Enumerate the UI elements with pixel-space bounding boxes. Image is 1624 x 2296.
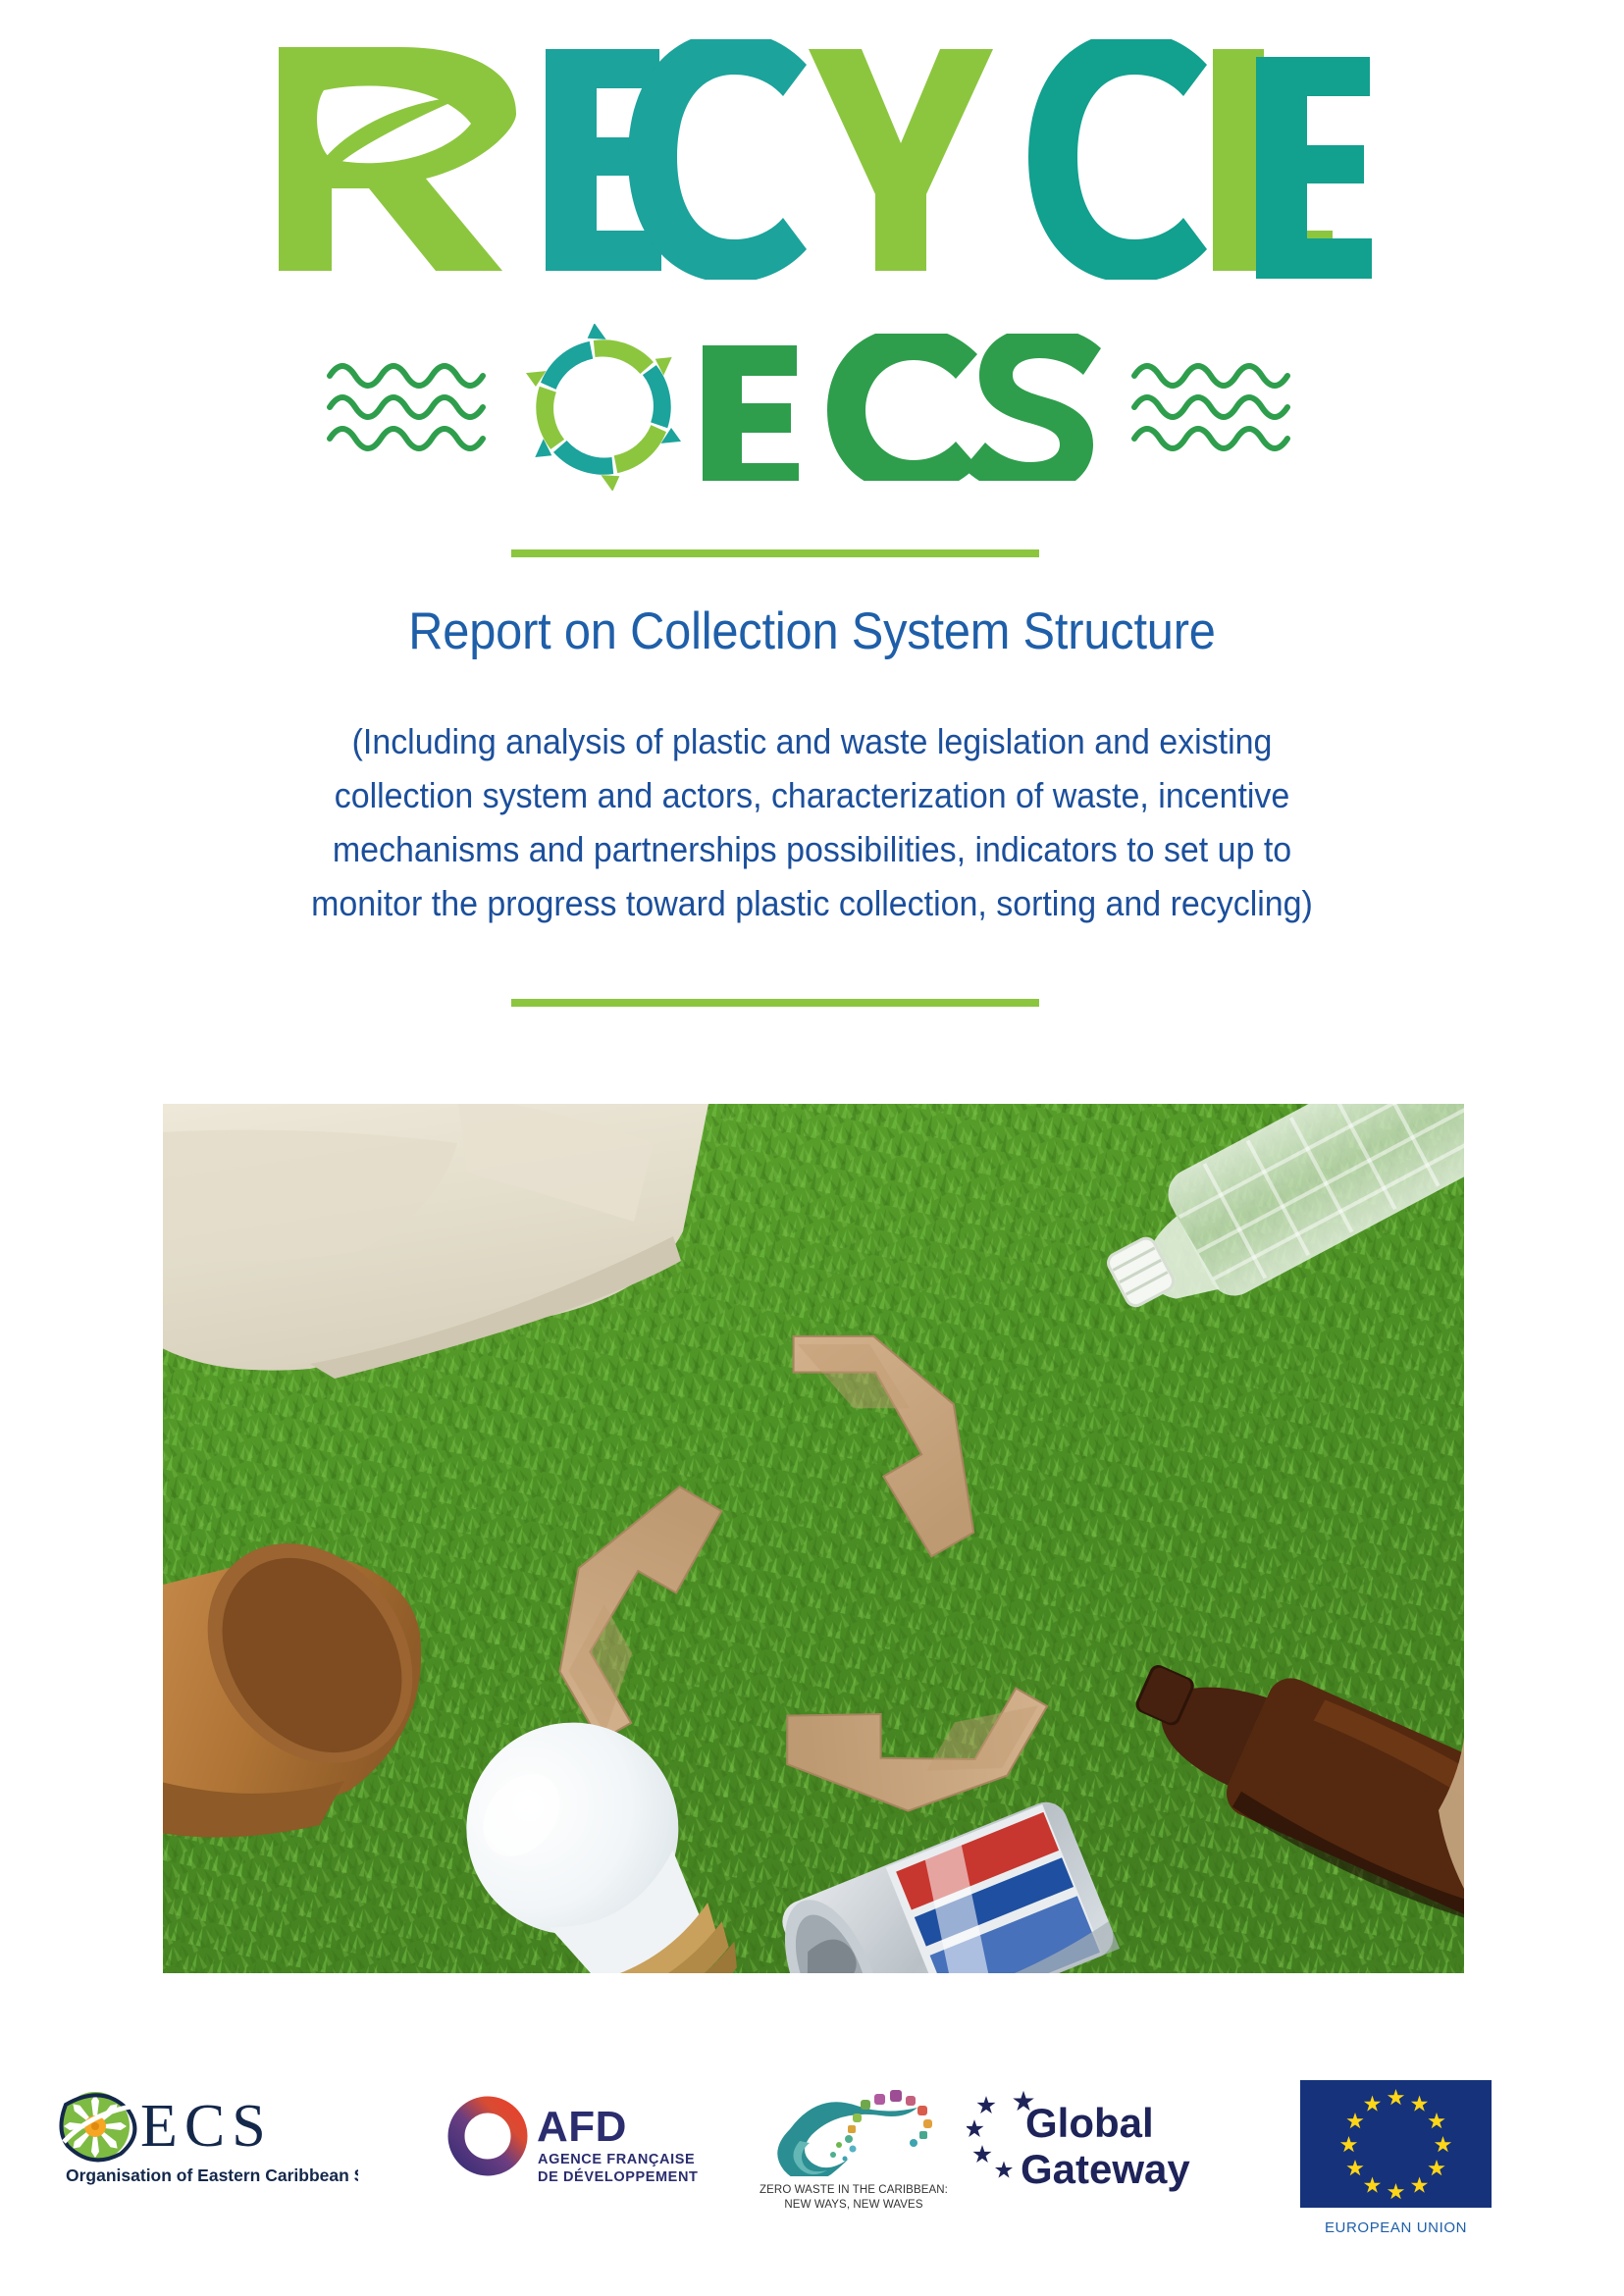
oecs-letter-S: [964, 334, 1101, 481]
oecs-logo-svg: ECS Organisation of Eastern Caribbean St…: [54, 2085, 358, 2203]
ring-seg-6: [540, 324, 610, 400]
zero-waste-logo: ZERO WASTE IN THE CARIBBEAN: NEW WAYS, N…: [751, 2088, 957, 2213]
recycle-ring-icon: [520, 324, 687, 491]
ring-seg-1: [593, 339, 671, 375]
afd-logo-svg: AFD AGENCE FRANÇAISE DE DÉVELOPPEMENT: [446, 2095, 707, 2193]
subtitle-line-3: mechanisms and partnerships possibilitie…: [235, 822, 1388, 876]
subtitle-line-1: (Including analysis of plastic and waste…: [235, 714, 1388, 768]
afd-line-1: AGENCE FRANÇAISE: [538, 2152, 695, 2167]
oecs-acronym: ECS: [140, 2093, 273, 2160]
global-gateway-logo: Global Gateway: [967, 2090, 1251, 2203]
global-gateway-line-2: Gateway: [1021, 2146, 1190, 2192]
divider-top: [511, 549, 1039, 557]
afd-logo: AFD AGENCE FRANÇAISE DE DÉVELOPPEMENT: [446, 2095, 707, 2198]
global-gateway-line-1: Global: [1025, 2100, 1154, 2146]
letter-C-2: [1028, 39, 1207, 280]
zero-waste-caption: ZERO WASTE IN THE CARIBBEAN: NEW WAYS, N…: [751, 2183, 957, 2213]
afd-acronym: AFD: [537, 2103, 627, 2151]
recycle-wordmark-svg: [263, 39, 1362, 280]
cover-photo-illustration: [163, 1104, 1464, 1973]
page-title: Report on Collection System Structure: [65, 601, 1559, 661]
zero-waste-line-2: NEW WAYS, NEW WAVES: [751, 2198, 957, 2213]
eu-flag-icon: [1300, 2080, 1492, 2208]
letter-E-last: [1246, 47, 1384, 287]
oecs-tagline: Organisation of Eastern Caribbean States: [66, 2166, 358, 2185]
afd-gradient-ring-icon: [456, 2105, 519, 2167]
divider-bottom: [511, 999, 1039, 1007]
afd-line-2: DE DÉVELOPPEMENT: [538, 2168, 699, 2185]
wave-lines-icon-left: [322, 348, 498, 466]
page-subtitle: (Including analysis of plastic and waste…: [235, 714, 1388, 930]
oecs-sunburst-icon: [61, 2092, 134, 2161]
oecs-wordmark-row: [0, 324, 1624, 491]
letter-C-1: [628, 39, 807, 280]
zero-waste-line-1: ZERO WASTE IN THE CARIBBEAN:: [751, 2183, 957, 2198]
oecs-letter-E: [703, 345, 799, 481]
ring-seg-4: [535, 439, 613, 474]
subtitle-line-4: monitor the progress toward plastic coll…: [235, 876, 1388, 930]
cover-photo: [163, 1104, 1464, 1973]
brand-logo: [0, 39, 1624, 510]
oecs-letter-C: [827, 334, 977, 481]
oecs-logo: ECS Organisation of Eastern Caribbean St…: [54, 2085, 358, 2208]
zero-waste-dots: [830, 2090, 932, 2162]
ring-seg-3: [597, 414, 667, 491]
subtitle-line-2: collection system and actors, characteri…: [235, 768, 1388, 822]
letter-Y: [809, 49, 993, 271]
european-union-caption: EUROPEAN UNION: [1300, 2219, 1492, 2236]
european-union-logo: EUROPEAN UNION: [1300, 2080, 1492, 2236]
letter-R: [279, 47, 542, 274]
footer-logo-bar: ECS Organisation of Eastern Caribbean St…: [0, 2070, 1624, 2267]
global-gateway-svg: Global Gateway: [967, 2090, 1251, 2198]
zero-waste-wave-icon: [751, 2088, 957, 2176]
ecs-letters: [693, 334, 1105, 481]
wave-lines-icon-right: [1126, 348, 1303, 466]
